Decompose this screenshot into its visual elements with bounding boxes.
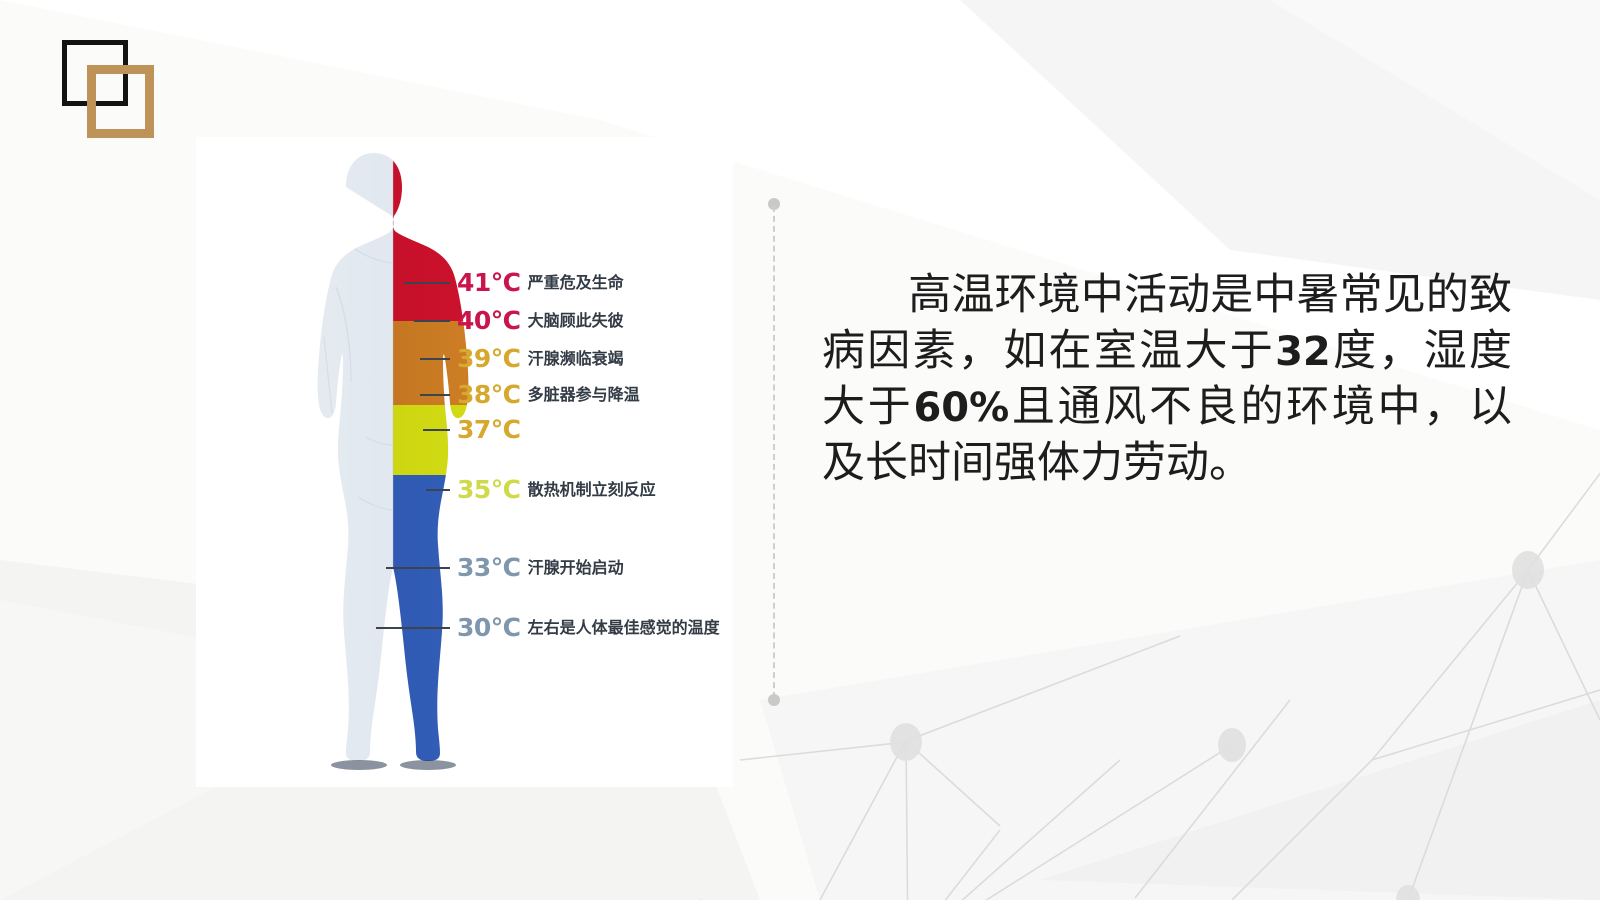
temperature-row: 41℃ 严重危及生命 (404, 270, 624, 295)
temperature-value: 40℃ (457, 308, 521, 333)
temperature-row: 37℃ (423, 417, 528, 442)
temperature-legend-rows: 41℃ 严重危及生命 40℃ 大脑顾此失彼 39℃ 汗腺濒临衰竭 38℃ 多脏器… (196, 137, 733, 787)
temperature-description: 大脑顾此失彼 (528, 313, 624, 329)
temperature-value: 39℃ (457, 346, 521, 371)
temperature-value: 33℃ (457, 555, 521, 580)
temperature-description: 多脏器参与降温 (528, 387, 640, 403)
paragraph-number-humidity: 60% (913, 385, 1009, 431)
body-temperature-figure-panel: 41℃ 严重危及生命 40℃ 大脑顾此失彼 39℃ 汗腺濒临衰竭 38℃ 多脏器… (196, 137, 733, 787)
paragraph-indent (822, 272, 908, 319)
temperature-row: 30℃ 左右是人体最佳感觉的温度 (376, 615, 720, 640)
leader-line-icon (414, 320, 450, 322)
temperature-value: 37℃ (457, 417, 521, 442)
temperature-row: 33℃ 汗腺开始启动 (386, 555, 624, 580)
leader-line-icon (386, 567, 450, 569)
temperature-value: 38℃ (457, 382, 521, 407)
temperature-description: 散热机制立刻反应 (528, 482, 656, 498)
temperature-description: 左右是人体最佳感觉的温度 (528, 620, 720, 636)
body-paragraph: 高温环境中活动是中暑常见的致病因素，如在室温大于32度，湿度大于60%且通风不良… (822, 268, 1512, 492)
temperature-description: 严重危及生命 (528, 275, 624, 291)
temperature-row: 39℃ 汗腺濒临衰竭 (420, 346, 624, 371)
leader-line-icon (376, 627, 450, 629)
temperature-description: 汗腺开始启动 (528, 560, 624, 576)
logo-square-front-icon (87, 65, 154, 138)
leader-line-icon (404, 282, 450, 284)
temperature-value: 35℃ (457, 477, 521, 502)
temperature-row: 40℃ 大脑顾此失彼 (414, 308, 624, 333)
temperature-description: 汗腺濒临衰竭 (528, 351, 624, 367)
leader-line-icon (420, 358, 450, 360)
temperature-value: 41℃ (457, 270, 521, 295)
dashed-vertical-divider (768, 198, 780, 706)
leader-line-icon (426, 489, 450, 491)
temperature-row: 35℃ 散热机制立刻反应 (426, 477, 656, 502)
leader-line-icon (423, 429, 450, 431)
slide-root: 41℃ 严重危及生命 40℃ 大脑顾此失彼 39℃ 汗腺濒临衰竭 38℃ 多脏器… (0, 0, 1600, 900)
temperature-value: 30℃ (457, 615, 521, 640)
temperature-row: 38℃ 多脏器参与降温 (420, 382, 640, 407)
leader-line-icon (420, 394, 450, 396)
divider-dashed-line (773, 206, 775, 698)
divider-dot-bottom-icon (768, 694, 780, 706)
paragraph-number-temperature: 32 (1275, 329, 1331, 375)
brand-logo (62, 40, 154, 138)
